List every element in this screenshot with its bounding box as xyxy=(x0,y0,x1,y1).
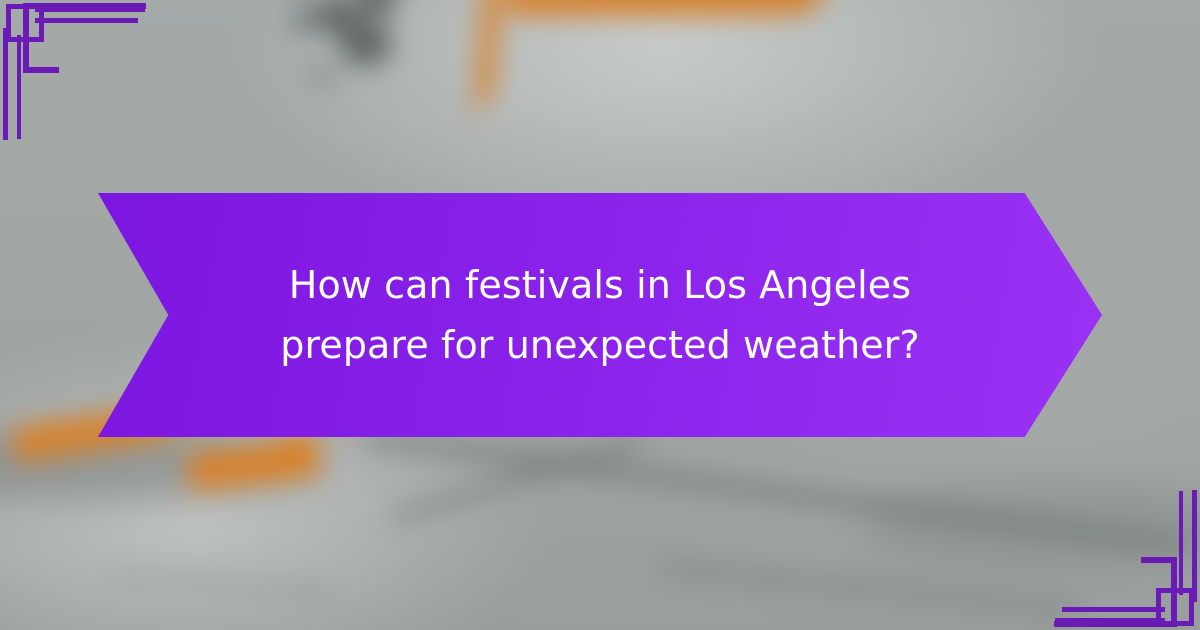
social-card: How can festivals in Los Angeles prepare… xyxy=(0,0,1200,630)
dark-scribble-mark xyxy=(340,20,392,66)
dark-scribble-mark xyxy=(290,8,324,32)
corner-bracket-foot xyxy=(1141,557,1177,563)
corner-rule-line-vertical xyxy=(1179,491,1183,595)
corner-ornament-bottom-right xyxy=(1000,450,1200,630)
orange-highlighter-mark xyxy=(508,0,808,17)
corner-bracket-vertical xyxy=(23,3,29,73)
corner-ornament-top-left xyxy=(0,0,200,180)
corner-rule-line xyxy=(1062,607,1165,612)
corner-rule-line xyxy=(35,8,145,12)
headline-banner: How can festivals in Los Angeles prepare… xyxy=(98,193,1102,437)
corner-bracket-foot xyxy=(23,67,59,73)
corner-rule-line-vertical xyxy=(17,35,21,139)
corner-rule-line xyxy=(1055,618,1165,622)
headline-text: How can festivals in Los Angeles prepare… xyxy=(180,255,1020,375)
dark-scribble-mark xyxy=(310,68,336,84)
corner-rule-line-vertical xyxy=(1192,490,1197,602)
corner-rule-line xyxy=(35,18,138,23)
corner-bracket-vertical xyxy=(1171,557,1177,627)
corner-rule-line-vertical xyxy=(3,28,8,140)
